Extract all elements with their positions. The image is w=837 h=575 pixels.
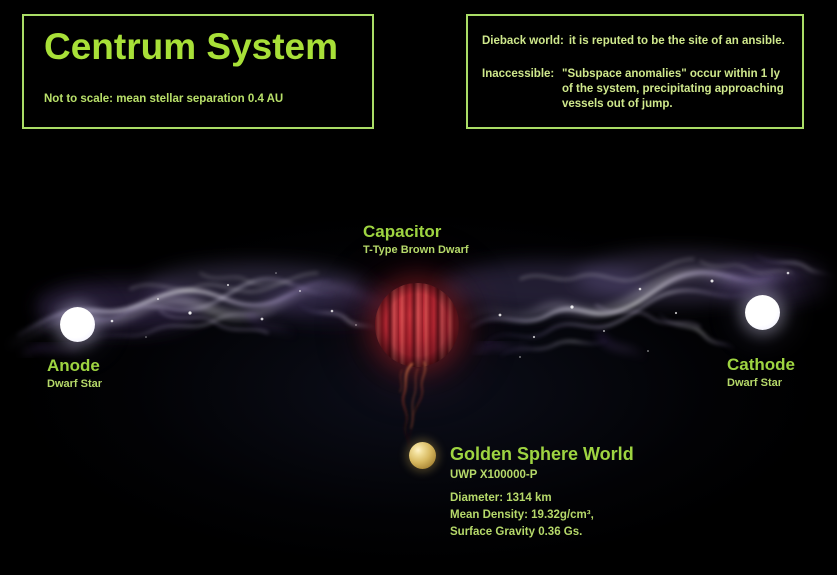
golden-sphere-uwp: UWP X100000-P bbox=[450, 469, 537, 481]
cathode-star-body bbox=[745, 295, 780, 330]
note-dieback: Dieback world: it is reputed to be the s… bbox=[482, 34, 785, 49]
capacitor-type-label: T-Type Brown Dwarf bbox=[363, 244, 469, 256]
title-panel: Centrum System Not to scale: mean stella… bbox=[22, 14, 374, 129]
golden-sphere-stat-density: Mean Density: 19.32g/cm³, bbox=[450, 509, 594, 521]
note-inaccessible-label: Inaccessible: bbox=[482, 67, 562, 112]
golden-sphere-world-label: Golden Sphere World bbox=[450, 444, 634, 465]
anode-star-body bbox=[60, 307, 95, 342]
capacitor-label: Capacitor bbox=[363, 222, 441, 242]
notes-panel: Dieback world: it is reputed to be the s… bbox=[466, 14, 804, 129]
system-map-canvas: Anode Dwarf Star Cathode Dwarf Star Capa… bbox=[0, 0, 837, 575]
capacitor-brown-dwarf-body bbox=[375, 283, 459, 367]
page-title: Centrum System bbox=[44, 26, 338, 68]
note-dieback-line-0: it is reputed to be the site of an ansib… bbox=[569, 35, 785, 47]
note-inaccessible-line-0: "Subspace anomalies" occur within 1 ly bbox=[562, 67, 784, 82]
note-inaccessible-line-1: of the system, precipitating approaching bbox=[562, 82, 784, 97]
note-inaccessible: Inaccessible: "Subspace anomalies" occur… bbox=[482, 67, 784, 112]
anode-label: Anode bbox=[47, 356, 100, 376]
golden-sphere-world-body bbox=[409, 442, 436, 469]
golden-sphere-stat-gravity: Surface Gravity 0.36 Gs. bbox=[450, 526, 582, 538]
note-inaccessible-line-2: vessels out of jump. bbox=[562, 97, 784, 112]
cathode-label: Cathode bbox=[727, 355, 795, 375]
scale-note: Not to scale: mean stellar separation 0.… bbox=[44, 93, 283, 105]
note-dieback-label: Dieback world: bbox=[482, 34, 564, 49]
cathode-type-label: Dwarf Star bbox=[727, 377, 782, 389]
golden-sphere-stat-diameter: Diameter: 1314 km bbox=[450, 492, 552, 504]
anode-type-label: Dwarf Star bbox=[47, 378, 102, 390]
